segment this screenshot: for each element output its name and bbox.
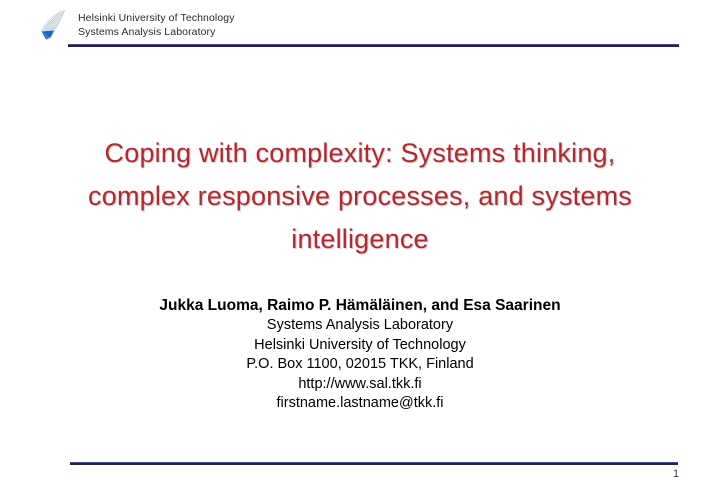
- page-number: 1: [656, 468, 696, 480]
- title-line-1: Coping with complexity: Systems thinking…: [44, 132, 676, 175]
- title-slide: Helsinki University of Technology System…: [0, 0, 720, 498]
- affiliation-line-email[interactable]: firstname.lastname@tkk.fi: [60, 394, 660, 414]
- affiliation-line-university: Helsinki University of Technology: [60, 336, 660, 356]
- affiliation-line-address: P.O. Box 1100, 02015 TKK, Finland: [60, 355, 660, 375]
- affiliation-line-lab: Systems Analysis Laboratory: [60, 316, 660, 336]
- author-names: Jukka Luoma, Raimo P. Hämäläinen, and Es…: [60, 296, 660, 316]
- footer-divider-rule: [70, 462, 678, 465]
- slide-title: Coping with complexity: Systems thinking…: [44, 132, 676, 261]
- slide-header: Helsinki University of Technology System…: [0, 0, 720, 55]
- author-affiliation-block: Jukka Luoma, Raimo P. Hämäläinen, and Es…: [60, 296, 660, 414]
- affiliation-line-website[interactable]: http://www.sal.tkk.fi: [60, 375, 660, 395]
- title-line-2: complex responsive processes, and system…: [44, 175, 676, 218]
- header-divider-rule: [68, 44, 679, 47]
- title-line-3: intelligence: [44, 218, 676, 261]
- header-org-line-1: Helsinki University of Technology: [78, 12, 235, 26]
- header-org-line-2: Systems Analysis Laboratory: [78, 26, 235, 40]
- tkk-sail-logo-icon: [38, 9, 68, 42]
- header-org-text: Helsinki University of Technology System…: [78, 12, 235, 39]
